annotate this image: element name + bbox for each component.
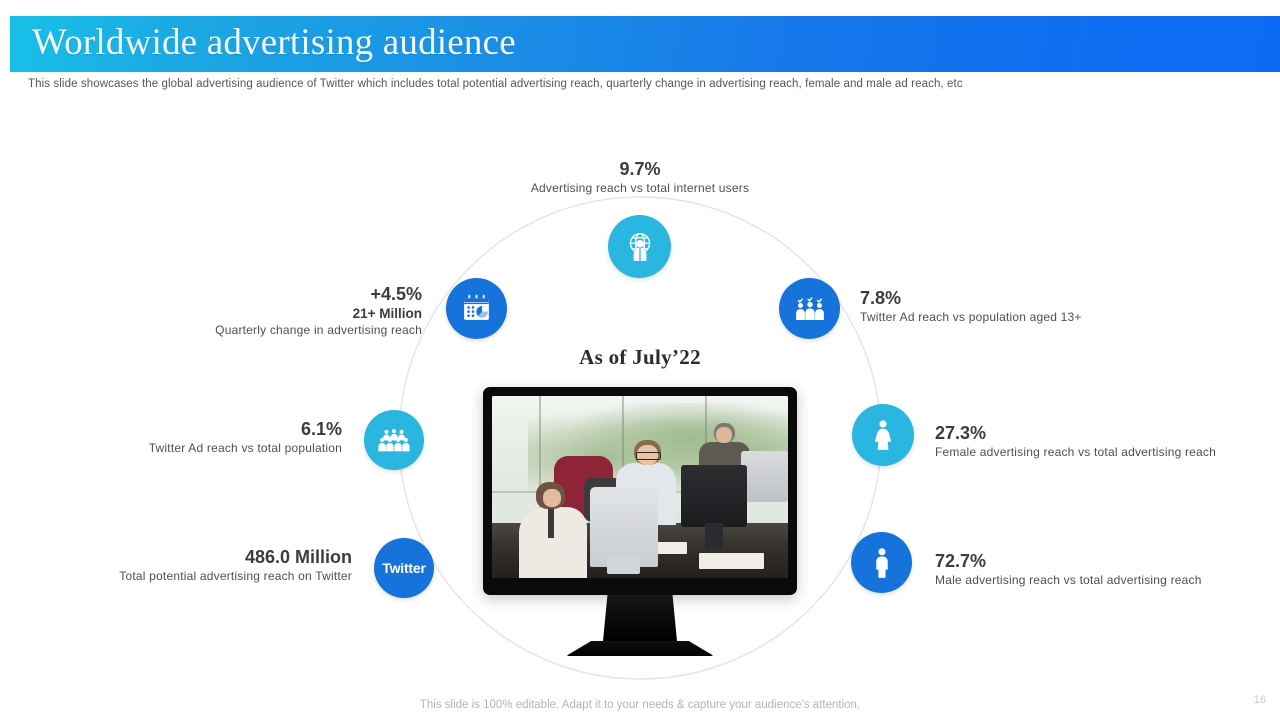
twitter-wordmark-icon: Twitter (382, 560, 425, 576)
three-people-check-icon (793, 292, 827, 326)
monitor-screen (492, 396, 788, 578)
stat-value: 6.1% (60, 418, 342, 440)
monitor-illustration (483, 387, 797, 656)
office-photo (492, 396, 788, 578)
node-icon-ad-reach-vs-total-population[interactable] (364, 410, 424, 470)
stat-desc: Twitter Ad reach vs population aged 13+ (860, 309, 1220, 326)
crowd-group-icon (377, 425, 411, 455)
monitor-base (566, 641, 714, 656)
stat-desc: Female advertising reach vs total advert… (935, 444, 1280, 461)
center-date-label: As of July’22 (540, 345, 740, 370)
stat-desc: Total potential advertising reach on Twi… (50, 568, 352, 585)
stat-value: +4.5% (120, 283, 422, 305)
stat-value: 486.0 Million (50, 546, 352, 568)
node-icon-female-advertising-reach[interactable] (852, 404, 914, 466)
stat-value-secondary: 21+ Million (120, 305, 422, 322)
stat-desc: Quarterly change in advertising reach (120, 322, 422, 339)
page-title: Worldwide advertising audience (32, 20, 516, 66)
monitor-frame (483, 387, 797, 595)
node-icon-advertising-reach-vs-internet-users[interactable] (608, 215, 671, 278)
node-text-ad-reach-vs-population-13plus: 7.8% Twitter Ad reach vs population aged… (860, 287, 1220, 326)
stat-value: 27.3% (935, 422, 1280, 444)
node-icon-ad-reach-vs-population-13plus[interactable] (779, 278, 840, 339)
stat-value: 9.7% (440, 158, 840, 180)
stat-desc: Advertising reach vs total internet user… (440, 180, 840, 197)
node-icon-quarterly-change[interactable] (446, 278, 507, 339)
footer-note: This slide is 100% editable. Adapt it to… (0, 699, 1280, 711)
node-text-female-advertising-reach: 27.3% Female advertising reach vs total … (935, 422, 1280, 461)
calendar-chart-icon (460, 292, 493, 325)
female-person-icon (868, 418, 898, 452)
node-text-quarterly-change: +4.5% 21+ Million Quarterly change in ad… (120, 283, 422, 339)
node-icon-total-potential-reach[interactable]: Twitter (374, 538, 434, 598)
male-person-icon (868, 546, 896, 580)
stat-desc: Twitter Ad reach vs total population (60, 440, 342, 457)
node-text-total-potential-reach: 486.0 Million Total potential advertisin… (50, 546, 352, 585)
node-icon-male-advertising-reach[interactable] (851, 532, 912, 593)
node-text-ad-reach-vs-total-population: 6.1% Twitter Ad reach vs total populatio… (60, 418, 342, 457)
node-text-male-advertising-reach: 72.7% Male advertising reach vs total ad… (935, 550, 1280, 589)
page-subtitle: This slide showcases the global advertis… (28, 78, 963, 90)
globe-person-icon (623, 230, 657, 264)
monitor-neck (603, 595, 677, 641)
stat-desc: Male advertising reach vs total advertis… (935, 572, 1280, 589)
page-number: 16 (1254, 694, 1266, 706)
stat-value: 7.8% (860, 287, 1220, 309)
stat-value: 72.7% (935, 550, 1280, 572)
node-text-advertising-reach-vs-internet-users: 9.7% Advertising reach vs total internet… (440, 158, 840, 197)
